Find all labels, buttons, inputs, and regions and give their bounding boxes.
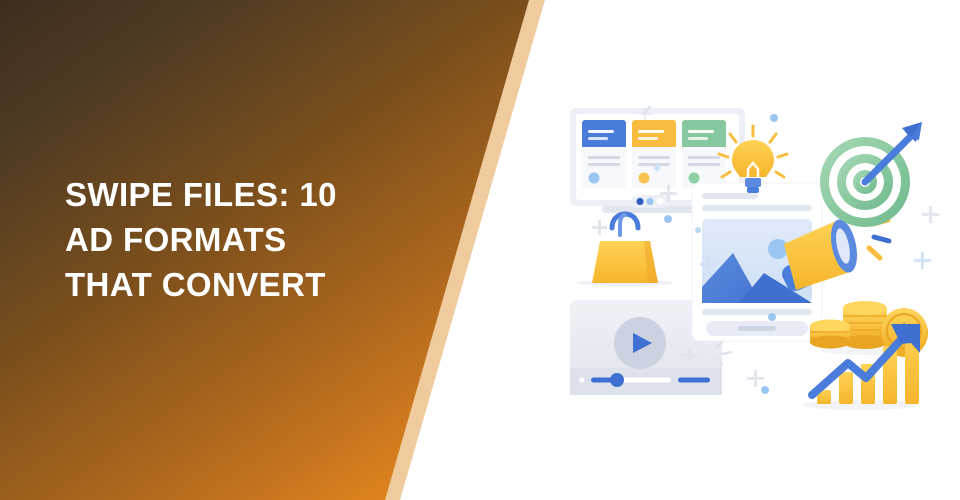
illustration: $ xyxy=(540,60,960,430)
dashboard-card-blue xyxy=(582,120,626,188)
target-dartboard xyxy=(820,122,922,227)
headline-line-2: Ad Formats xyxy=(65,217,425,262)
shopping-bag xyxy=(577,214,673,286)
carousel-dots[interactable] xyxy=(631,195,669,208)
carousel-dot-active xyxy=(636,198,643,205)
carousel-dot-2 xyxy=(646,198,653,205)
video-volume-bar xyxy=(678,378,710,383)
dashboard-card-yellow xyxy=(632,120,676,188)
coin-stack-short xyxy=(810,320,850,349)
headline-line-3: That Convert xyxy=(65,262,425,307)
headline-line-1: Swipe Files: 10 xyxy=(65,172,425,217)
marketing-banner: Swipe Files: 10 Ad Formats That Convert xyxy=(0,0,960,500)
video-progress-knob xyxy=(610,373,624,387)
carousel-dot-3 xyxy=(656,198,663,205)
bar-2 xyxy=(839,372,853,404)
page-title: Swipe Files: 10 Ad Formats That Convert xyxy=(65,172,425,308)
photo-sun xyxy=(768,239,788,259)
